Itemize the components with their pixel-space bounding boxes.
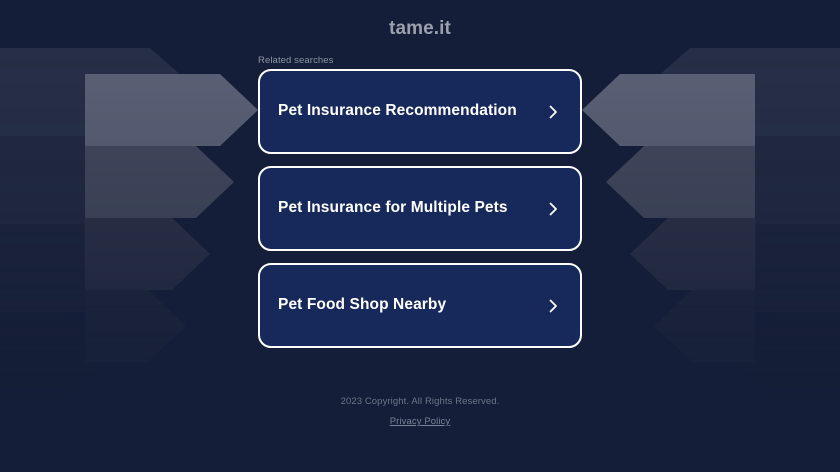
related-search-label: Pet Food Shop Nearby bbox=[278, 296, 446, 315]
privacy-policy-link[interactable]: Privacy Policy bbox=[390, 416, 451, 427]
page-title: tame.it bbox=[0, 18, 840, 40]
related-search-card[interactable]: Pet Insurance for Multiple Pets bbox=[258, 166, 582, 251]
chevron-right-icon bbox=[545, 201, 561, 217]
related-searches-list: Pet Insurance Recommendation Pet Insuran… bbox=[258, 69, 582, 360]
related-search-label: Pet Insurance Recommendation bbox=[278, 102, 517, 121]
footer: 2023 Copyright. All Rights Reserved. Pri… bbox=[0, 396, 840, 429]
chevron-right-icon bbox=[545, 298, 561, 314]
related-search-label: Pet Insurance for Multiple Pets bbox=[278, 199, 508, 218]
page-root: tame.it Related searches Pet Insurance R… bbox=[0, 0, 840, 472]
copyright-text: 2023 Copyright. All Rights Reserved. bbox=[0, 396, 840, 407]
related-search-card[interactable]: Pet Food Shop Nearby bbox=[258, 263, 582, 348]
related-search-card[interactable]: Pet Insurance Recommendation bbox=[258, 69, 582, 154]
related-searches-label: Related searches bbox=[258, 55, 334, 66]
chevron-right-icon bbox=[545, 104, 561, 120]
